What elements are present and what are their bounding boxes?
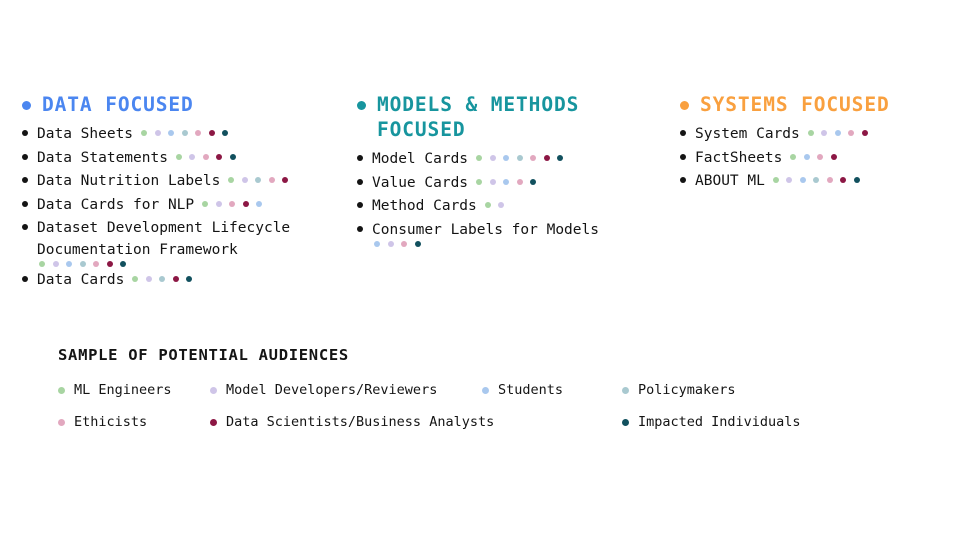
artifact-list-item: Data Statements [22,147,367,169]
audience-dot-green [476,179,482,185]
column-systems-focused: SYSTEMS FOCUSED System CardsFactSheetsAB… [680,92,955,194]
audience-dot-lavender [216,201,222,207]
audience-dot-maroon [243,201,249,207]
artifact-item-body: Value Cards [372,172,677,194]
artifact-list-item: Data Sheets [22,123,367,145]
legend-label: Data Scientists/Business Analysts [226,414,494,430]
artifact-list-item: Data Cards [22,269,367,291]
audience-dot-green [228,177,234,183]
audience-dot-group [132,276,192,282]
audience-dot-lavender [490,179,496,185]
column-models-methods-focused: MODELS & METHODS FOCUSED Model CardsValu… [357,92,677,249]
audience-dot-green [39,261,45,267]
audience-dot-darkteal [530,179,536,185]
audience-dot-maroon [216,154,222,160]
audience-dot-darkteal [120,261,126,267]
legend-label: Students [498,382,563,398]
artifact-list-item: Model Cards [357,148,677,170]
artifact-item-label: Value Cards [372,175,468,191]
audience-dot-lavender [388,241,394,247]
legend-item: Impacted Individuals [622,414,888,430]
legend-dot-blue [482,387,489,394]
audience-dot-group [773,177,860,183]
audience-dot-pink [203,154,209,160]
audience-dot-group [808,130,868,136]
audience-dot-darkteal [230,154,236,160]
legend-dot-maroon [210,419,217,426]
list-bullet-icon [22,130,28,136]
audience-dot-green [202,201,208,207]
audience-dot-lavender [155,130,161,136]
audience-dot-blue [800,177,806,183]
audience-dot-pink [817,154,823,160]
audience-dot-lavender [189,154,195,160]
artifact-list-item: Dataset Development Lifecycle Documentat… [22,217,367,267]
audience-dot-darkteal [222,130,228,136]
audience-dot-group [374,241,677,247]
artifact-list-item: ABOUT ML [680,170,955,192]
audience-dot-blue [503,179,509,185]
legend-spacer [482,414,622,430]
artifact-item-label: Model Cards [372,151,468,167]
audience-dot-tealblue [182,130,188,136]
artifact-list-item: Method Cards [357,195,677,217]
column-data-focused: DATA FOCUSED Data SheetsData StatementsD… [22,92,367,293]
legend-grid: ML EngineersModel Developers/ReviewersSt… [58,382,888,430]
heading-bullet-icon [680,101,689,110]
audience-dot-blue [503,155,509,161]
list-bullet-icon [357,202,363,208]
artifact-item-body: Consumer Labels for Models [372,219,677,248]
audience-dot-lavender [821,130,827,136]
audience-dot-maroon [544,155,550,161]
audience-dot-green [485,202,491,208]
list-bullet-icon [22,154,28,160]
legend-label: Model Developers/Reviewers [226,382,437,398]
artifact-list-item: System Cards [680,123,955,145]
legend-item: ML Engineers [58,382,210,398]
artifact-item-body: Data Cards for NLP [37,194,367,216]
audience-dot-pink [195,130,201,136]
audience-dot-lavender [786,177,792,183]
audience-dot-group [476,155,563,161]
audience-dot-maroon [173,276,179,282]
audience-dot-maroon [209,130,215,136]
audience-dot-green [132,276,138,282]
audience-dot-maroon [831,154,837,160]
column-heading-models-methods-focused: MODELS & METHODS FOCUSED [357,92,677,142]
audience-dot-tealblue [517,155,523,161]
legend-item: Ethicists [58,414,210,430]
audience-dot-green [808,130,814,136]
audience-dot-darkteal [854,177,860,183]
legend-dot-pink [58,419,65,426]
legend-label: ML Engineers [74,382,172,398]
list-bullet-icon [22,201,28,207]
list-bullet-icon [357,155,363,161]
list-bullet-icon [22,276,28,282]
audience-dot-group [141,130,228,136]
audience-dot-blue [374,241,380,247]
audience-dot-pink [93,261,99,267]
list-bullet-icon [22,224,28,230]
artifact-item-body: Dataset Development Lifecycle Documentat… [37,217,367,267]
audience-dot-lavender [53,261,59,267]
legend-dot-lavender [210,387,217,394]
audience-dot-pink [530,155,536,161]
artifact-list-item: Data Cards for NLP [22,194,367,216]
audience-dot-lavender [146,276,152,282]
audience-dot-group [790,154,837,160]
audience-dot-tealblue [80,261,86,267]
audience-dot-pink [401,241,407,247]
audience-dot-lavender [242,177,248,183]
list-bullet-icon [680,130,686,136]
artifact-item-body: Data Nutrition Labels [37,170,367,192]
documentation-artifact-columns: DATA FOCUSED Data SheetsData StatementsD… [0,92,960,307]
audience-dot-blue [256,201,262,207]
audience-dot-group [485,202,505,208]
audience-legend: SAMPLE OF POTENTIAL AUDIENCES ML Enginee… [58,346,888,430]
artifact-item-body: Data Cards [37,269,367,291]
audience-dot-blue [168,130,174,136]
artifact-item-label: Dataset Development Lifecycle Documentat… [37,220,299,258]
audience-dot-tealblue [813,177,819,183]
heading-bullet-icon [357,101,366,110]
audience-dot-blue [66,261,72,267]
legend-label: Policymakers [638,382,736,398]
audience-dot-pink [517,179,523,185]
artifact-item-label: System Cards [695,126,800,142]
legend-item: Policymakers [622,382,888,398]
column-heading-label: SYSTEMS FOCUSED [700,92,890,117]
audience-dot-pink [229,201,235,207]
artifact-item-body: Data Statements [37,147,367,169]
artifact-item-label: FactSheets [695,150,782,166]
heading-bullet-icon [22,101,31,110]
audience-dot-maroon [862,130,868,136]
audience-dot-green [476,155,482,161]
list-bullet-icon [680,177,686,183]
audience-dot-lavender [490,155,496,161]
audience-dot-group [476,179,536,185]
audience-dot-lavender [498,202,504,208]
artifact-item-label: Data Statements [37,150,168,166]
item-list-models-methods-focused: Model CardsValue CardsMethod CardsConsum… [357,148,677,247]
audience-dot-green [773,177,779,183]
column-heading-label: DATA FOCUSED [42,92,194,117]
list-bullet-icon [680,154,686,160]
audience-dot-group [176,154,236,160]
audience-dot-green [176,154,182,160]
audience-dot-maroon [840,177,846,183]
audience-dot-blue [804,154,810,160]
artifact-item-body: Model Cards [372,148,677,170]
artifact-list-item: Consumer Labels for Models [357,219,677,248]
artifact-item-body: ABOUT ML [695,170,955,192]
artifact-list-item: Data Nutrition Labels [22,170,367,192]
column-heading-label: MODELS & METHODS FOCUSED [377,92,677,142]
artifact-item-body: Data Sheets [37,123,367,145]
legend-title: SAMPLE OF POTENTIAL AUDIENCES [58,346,888,364]
artifact-item-label: Consumer Labels for Models [372,222,599,238]
column-heading-systems-focused: SYSTEMS FOCUSED [680,92,955,117]
artifact-item-label: Data Cards for NLP [37,197,194,213]
artifact-item-body: Method Cards [372,195,677,217]
legend-label: Ethicists [74,414,147,430]
list-bullet-icon [357,226,363,232]
artifact-item-label: ABOUT ML [695,173,765,189]
legend-item: Model Developers/Reviewers [210,382,482,398]
audience-dot-blue [835,130,841,136]
legend-dot-green [58,387,65,394]
list-bullet-icon [357,179,363,185]
audience-dot-pink [848,130,854,136]
audience-dot-darkteal [186,276,192,282]
audience-dot-maroon [107,261,113,267]
audience-dot-green [790,154,796,160]
audience-dot-darkteal [415,241,421,247]
item-list-systems-focused: System CardsFactSheetsABOUT ML [680,123,955,192]
artifact-item-body: System Cards [695,123,955,145]
audience-dot-tealblue [159,276,165,282]
audience-dot-pink [269,177,275,183]
artifact-item-label: Data Cards [37,272,124,288]
legend-label: Impacted Individuals [638,414,801,430]
audience-dot-maroon [282,177,288,183]
artifact-list-item: Value Cards [357,172,677,194]
artifact-item-label: Method Cards [372,198,477,214]
list-bullet-icon [22,177,28,183]
audience-dot-green [141,130,147,136]
artifact-item-body: FactSheets [695,147,955,169]
audience-dot-tealblue [255,177,261,183]
artifact-item-label: Data Sheets [37,126,133,142]
legend-item: Data Scientists/Business Analysts [210,414,482,430]
legend-dot-darkteal [622,419,629,426]
legend-dot-tealblue [622,387,629,394]
audience-dot-darkteal [557,155,563,161]
artifact-list-item: FactSheets [680,147,955,169]
audience-dot-group [202,201,262,207]
audience-dot-group [39,261,367,267]
artifact-item-label: Data Nutrition Labels [37,173,220,189]
column-heading-data-focused: DATA FOCUSED [22,92,367,117]
audience-dot-pink [827,177,833,183]
audience-dot-group [228,177,288,183]
legend-item: Students [482,382,622,398]
item-list-data-focused: Data SheetsData StatementsData Nutrition… [22,123,367,291]
